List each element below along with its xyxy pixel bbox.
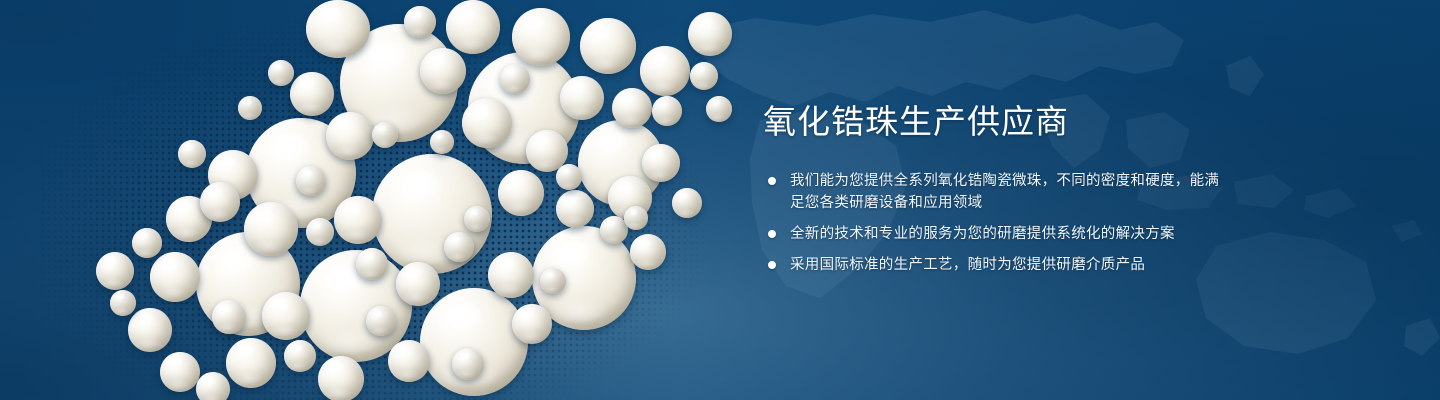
page-title: 氧化锆珠生产供应商 — [763, 104, 1233, 140]
list-item-text: 全新的技术和专业的服务为您的研磨提供系统化的解决方案 — [790, 226, 1175, 242]
list-item: 全新的技术和专业的服务为您的研磨提供系统化的解决方案 — [763, 223, 1233, 245]
hero-banner: 氧化锆珠生产供应商 我们能为您提供全系列氧化锆陶瓷微珠，不同的密度和硬度，能满足… — [0, 0, 1440, 400]
list-item: 采用国际标准的生产工艺，随时为您提供研磨介质产品 — [763, 254, 1233, 276]
bullet-dot-icon — [768, 177, 776, 185]
banner-copy: 氧化锆珠生产供应商 我们能为您提供全系列氧化锆陶瓷微珠，不同的密度和硬度，能满足… — [763, 104, 1233, 276]
feature-list: 我们能为您提供全系列氧化锆陶瓷微珠，不同的密度和硬度，能满足您各类研磨设备和应用… — [763, 170, 1233, 276]
bullet-dot-icon — [768, 261, 776, 269]
list-item: 我们能为您提供全系列氧化锆陶瓷微珠，不同的密度和硬度，能满足您各类研磨设备和应用… — [763, 170, 1233, 214]
list-item-text: 我们能为您提供全系列氧化锆陶瓷微珠，不同的密度和硬度，能满足您各类研磨设备和应用… — [790, 173, 1219, 211]
list-item-text: 采用国际标准的生产工艺，随时为您提供研磨介质产品 — [790, 257, 1145, 273]
bullet-dot-icon — [768, 230, 776, 238]
